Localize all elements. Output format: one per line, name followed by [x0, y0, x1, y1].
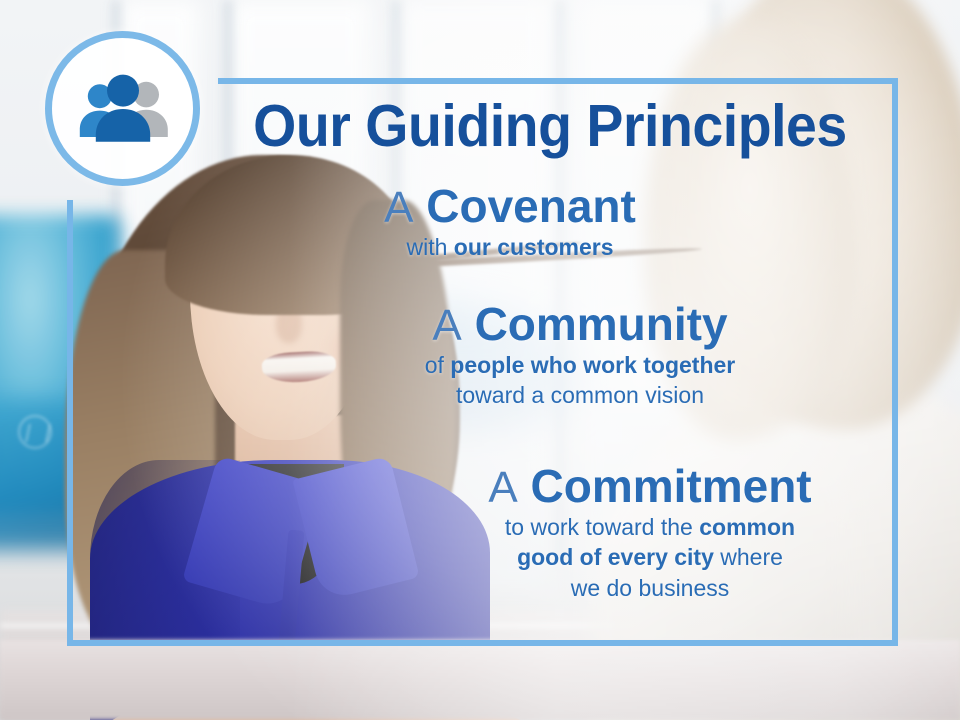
principle-detail-emphasis: good of every city [517, 544, 714, 570]
table-surface [0, 640, 960, 720]
principle-heading: A Community [380, 300, 780, 350]
group-of-people-icon [75, 74, 171, 144]
principle-detail-emphasis: people who work together [450, 352, 735, 378]
principle-detail-text: we do business [571, 575, 730, 601]
principle-detail-text: toward a common vision [456, 382, 704, 408]
principle-heading: A Covenant [330, 182, 690, 232]
principle-keyword: Commitment [531, 460, 812, 512]
principle-detail-line: with our customers [330, 232, 690, 263]
frame-top-border [218, 78, 898, 84]
page-title: Our Guiding Principles [235, 96, 865, 158]
principle-detail-line: good of every city where [440, 542, 860, 573]
principle-detail-text: to work toward the [505, 514, 699, 540]
people-icon-badge [45, 31, 200, 186]
principle-detail-text: of [425, 352, 451, 378]
principle-detail-text: where [714, 544, 783, 570]
principle-keyword: Covenant [426, 180, 636, 232]
principle-block-community: A Community of people who work togethert… [380, 300, 780, 411]
principle-article: A [488, 463, 517, 512]
frame-right-border [892, 78, 898, 646]
frame-left-border [67, 200, 73, 646]
principle-block-commitment: A Commitment to work toward the commongo… [440, 462, 860, 603]
vw-logo-icon [18, 415, 52, 449]
principle-heading: A Commitment [440, 462, 860, 512]
principle-detail-emphasis: our customers [454, 234, 614, 260]
guiding-principles-graphic: FLOW AUTOMOTIVE FLOW [0, 0, 960, 720]
principle-detail: of people who work togethertoward a comm… [380, 350, 780, 411]
frame-bottom-border [67, 640, 898, 646]
principle-block-covenant: A Covenant with our customers [330, 182, 690, 262]
principle-detail-line: to work toward the common [440, 512, 860, 543]
principle-detail-emphasis: common [699, 514, 795, 540]
principle-article: A [432, 301, 461, 350]
principle-article: A [384, 183, 413, 232]
principle-detail-line: we do business [440, 573, 860, 604]
principle-detail: to work toward the commongood of every c… [440, 512, 860, 604]
principle-keyword: Community [475, 298, 728, 350]
principle-detail: with our customers [330, 232, 690, 263]
principle-detail-line: toward a common vision [380, 380, 780, 411]
principle-detail-text: with [406, 234, 453, 260]
principle-detail-line: of people who work together [380, 350, 780, 381]
